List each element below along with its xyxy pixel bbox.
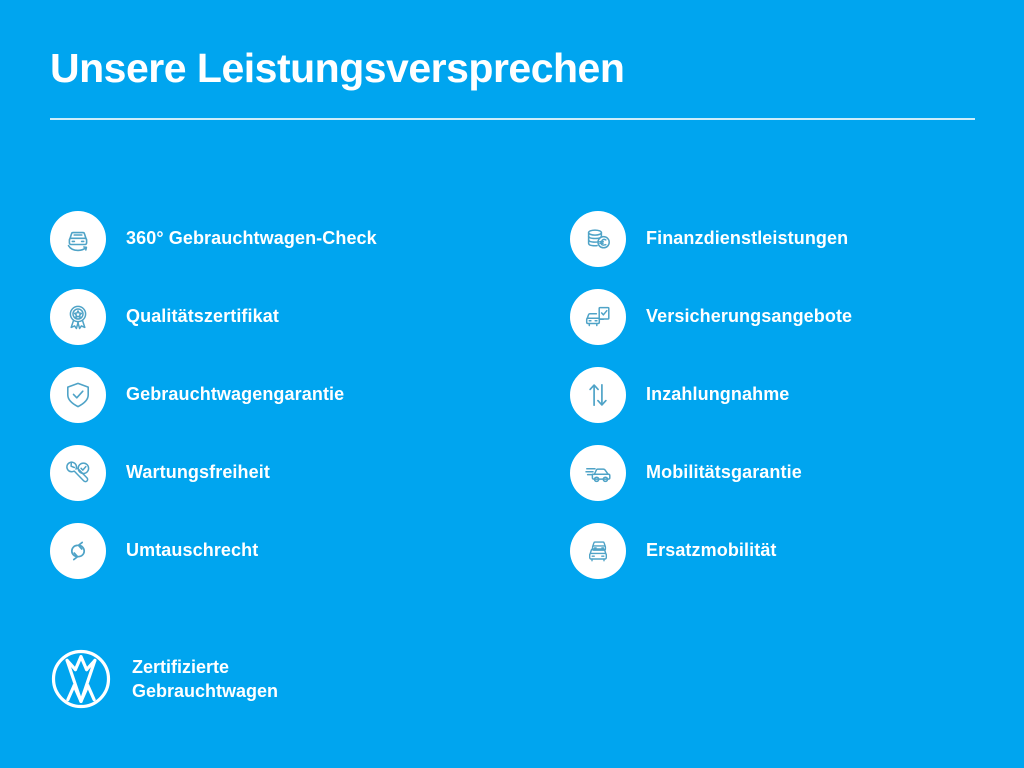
- title-divider: [50, 118, 975, 120]
- two-cars-icon: [570, 523, 626, 579]
- exchange-arrows-icon: [50, 523, 106, 579]
- feature-item-versicherungsangebote[interactable]: Versicherungsangebote: [570, 278, 980, 356]
- car-360-check-icon: [50, 211, 106, 267]
- wrench-check-icon: [50, 445, 106, 501]
- feature-item-qualitaetszertifikat[interactable]: Qualitätszertifikat: [50, 278, 570, 356]
- coins-euro-icon: [570, 211, 626, 267]
- feature-item-ersatzmobilitaet[interactable]: Ersatzmobilität: [570, 512, 980, 590]
- feature-label: Finanzdienstleistungen: [646, 228, 848, 250]
- volkswagen-logo-icon: [50, 648, 112, 710]
- feature-item-finanzdienstleistungen[interactable]: Finanzdienstleistungen: [570, 200, 980, 278]
- brand-line-1: Zertifizierte: [132, 655, 278, 679]
- feature-label: Wartungsfreiheit: [126, 462, 270, 484]
- page-title: Unsere Leistungsversprechen: [50, 46, 975, 91]
- brand-text: Zertifizierte Gebrauchtwagen: [132, 655, 278, 704]
- feature-item-umtauschrecht[interactable]: Umtauschrecht: [50, 512, 570, 590]
- shield-check-icon: [50, 367, 106, 423]
- car-motion-icon: [570, 445, 626, 501]
- car-document-check-icon: [570, 289, 626, 345]
- feature-item-wartungsfreiheit[interactable]: Wartungsfreiheit: [50, 434, 570, 512]
- up-down-arrows-icon: [570, 367, 626, 423]
- award-rosette-icon: [50, 289, 106, 345]
- header: Unsere Leistungsversprechen: [50, 46, 975, 120]
- feature-label: Umtauschrecht: [126, 540, 258, 562]
- feature-item-inzahlungnahme[interactable]: Inzahlungnahme: [570, 356, 980, 434]
- feature-label: Inzahlungnahme: [646, 384, 789, 406]
- feature-label: 360° Gebrauchtwagen-Check: [126, 228, 377, 250]
- feature-item-360-gebrauchtwagen-check[interactable]: 360° Gebrauchtwagen-Check: [50, 200, 570, 278]
- feature-label: Ersatzmobilität: [646, 540, 777, 562]
- feature-label: Mobilitätsgarantie: [646, 462, 802, 484]
- brand-footer: Zertifizierte Gebrauchtwagen: [50, 648, 278, 710]
- slide-root: Unsere Leistungsversprechen 360° Gebrauc…: [0, 0, 1024, 768]
- feature-item-gebrauchtwagengarantie[interactable]: Gebrauchtwagengarantie: [50, 356, 570, 434]
- feature-label: Versicherungsangebote: [646, 306, 852, 328]
- feature-label: Gebrauchtwagengarantie: [126, 384, 344, 406]
- feature-label: Qualitätszertifikat: [126, 306, 279, 328]
- feature-item-mobilitaetsgarantie[interactable]: Mobilitätsgarantie: [570, 434, 980, 512]
- feature-grid: 360° Gebrauchtwagen-Check Finanzdienstle…: [50, 200, 980, 590]
- brand-line-2: Gebrauchtwagen: [132, 679, 278, 703]
